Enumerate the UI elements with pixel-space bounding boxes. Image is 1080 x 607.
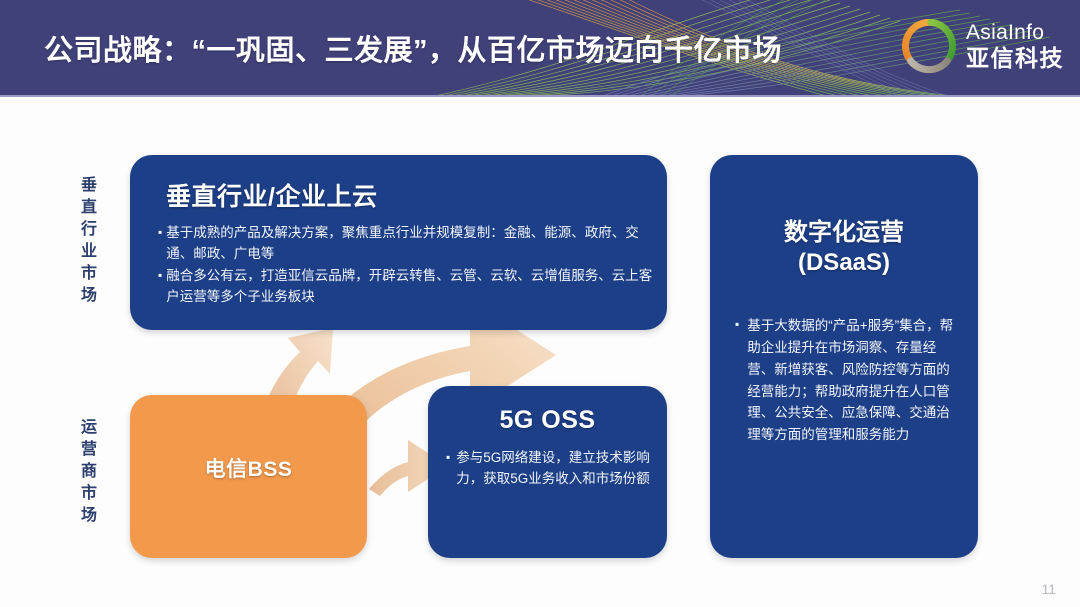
page-title: 公司战略：“一巩固、三发展”，从百亿市场迈向千亿市场 <box>44 27 782 69</box>
bullet-item: ▪ 参与5G网络建设，建立技术影响力，获取5G业务收入和市场份额 <box>446 448 656 490</box>
card-vertical-industry-bullets: ▪ 基于成熟的产品及解决方案，聚焦重点行业并规模复制：金融、能源、政府、交通、邮… <box>158 223 653 309</box>
card-5g-oss[interactable]: 5G OSS ▪ 参与5G网络建设，建立技术影响力，获取5G业务收入和市场份额 <box>428 386 667 558</box>
card-dsaas[interactable]: 数字化运营 (DSaaS) ▪ 基于大数据的“产品+服务”集合，帮助企业提升在市… <box>710 155 978 558</box>
slide-root: 公司战略：“一巩固、三发展”，从百亿市场迈向千亿市场 <box>0 0 1080 607</box>
bullet-text: 参与5G网络建设，建立技术影响力，获取5G业务收入和市场份额 <box>456 448 656 490</box>
bullet-item: ▪ 基于大数据的“产品+服务”集合，帮助企业提升在市场洞察、存量经营、新增获客、… <box>735 315 963 446</box>
card-telecom-bss[interactable]: 电信BSS <box>130 395 367 558</box>
logo-wordmark: AsiaInfo 亚信科技 <box>966 22 1064 70</box>
bullet-item: ▪ 融合多公有云，打造亚信云品牌，开辟云转售、云管、云软、云增值服务、云上客户运… <box>158 266 653 308</box>
logo-latin-text: AsiaInfo <box>966 22 1064 43</box>
card-dsaas-bullets: ▪ 基于大数据的“产品+服务”集合，帮助企业提升在市场洞察、存量经营、新增获客、… <box>735 315 963 446</box>
card-telecom-bss-title: 电信BSS <box>130 453 367 483</box>
card-dsaas-title-line1: 数字化运营 <box>710 218 978 248</box>
card-vertical-industry-title: 垂直行业/企业上云 <box>166 177 377 213</box>
bullet-dot-icon: ▪ <box>735 315 747 446</box>
side-label-vertical-industry-market: 垂直行业市场 <box>70 176 96 308</box>
asiainfo-ring-icon <box>901 18 957 74</box>
bullet-dot-icon: ▪ <box>158 266 166 308</box>
card-dsaas-title: 数字化运营 (DSaaS) <box>710 218 978 278</box>
card-5g-oss-title: 5G OSS <box>428 406 667 435</box>
logo-chinese-text: 亚信科技 <box>966 47 1064 70</box>
bullet-text: 基于大数据的“产品+服务”集合，帮助企业提升在市场洞察、存量经营、新增获客、风险… <box>747 315 963 446</box>
bullet-text: 基于成熟的产品及解决方案，聚焦重点行业并规模复制：金融、能源、政府、交通、邮政、… <box>166 223 653 265</box>
slide-header: 公司战略：“一巩固、三发展”，从百亿市场迈向千亿市场 <box>0 0 1080 97</box>
bullet-text: 融合多公有云，打造亚信云品牌，开辟云转售、云管、云软、云增值服务、云上客户运营等… <box>166 266 653 308</box>
bullet-dot-icon: ▪ <box>158 223 166 265</box>
card-5g-oss-bullets: ▪ 参与5G网络建设，建立技术影响力，获取5G业务收入和市场份额 <box>446 448 656 490</box>
asiainfo-logo: AsiaInfo 亚信科技 <box>901 18 1064 74</box>
side-label-carrier-market: 运营商市场 <box>70 418 96 528</box>
bullet-item: ▪ 基于成熟的产品及解决方案，聚焦重点行业并规模复制：金融、能源、政府、交通、邮… <box>158 223 653 265</box>
card-dsaas-title-line2: (DSaaS) <box>710 248 978 278</box>
header-underline <box>0 95 1080 97</box>
page-number: 11 <box>1041 581 1056 597</box>
bullet-dot-icon: ▪ <box>446 448 456 490</box>
card-vertical-industry[interactable]: 垂直行业/企业上云 ▪ 基于成熟的产品及解决方案，聚焦重点行业并规模复制：金融、… <box>130 155 667 330</box>
